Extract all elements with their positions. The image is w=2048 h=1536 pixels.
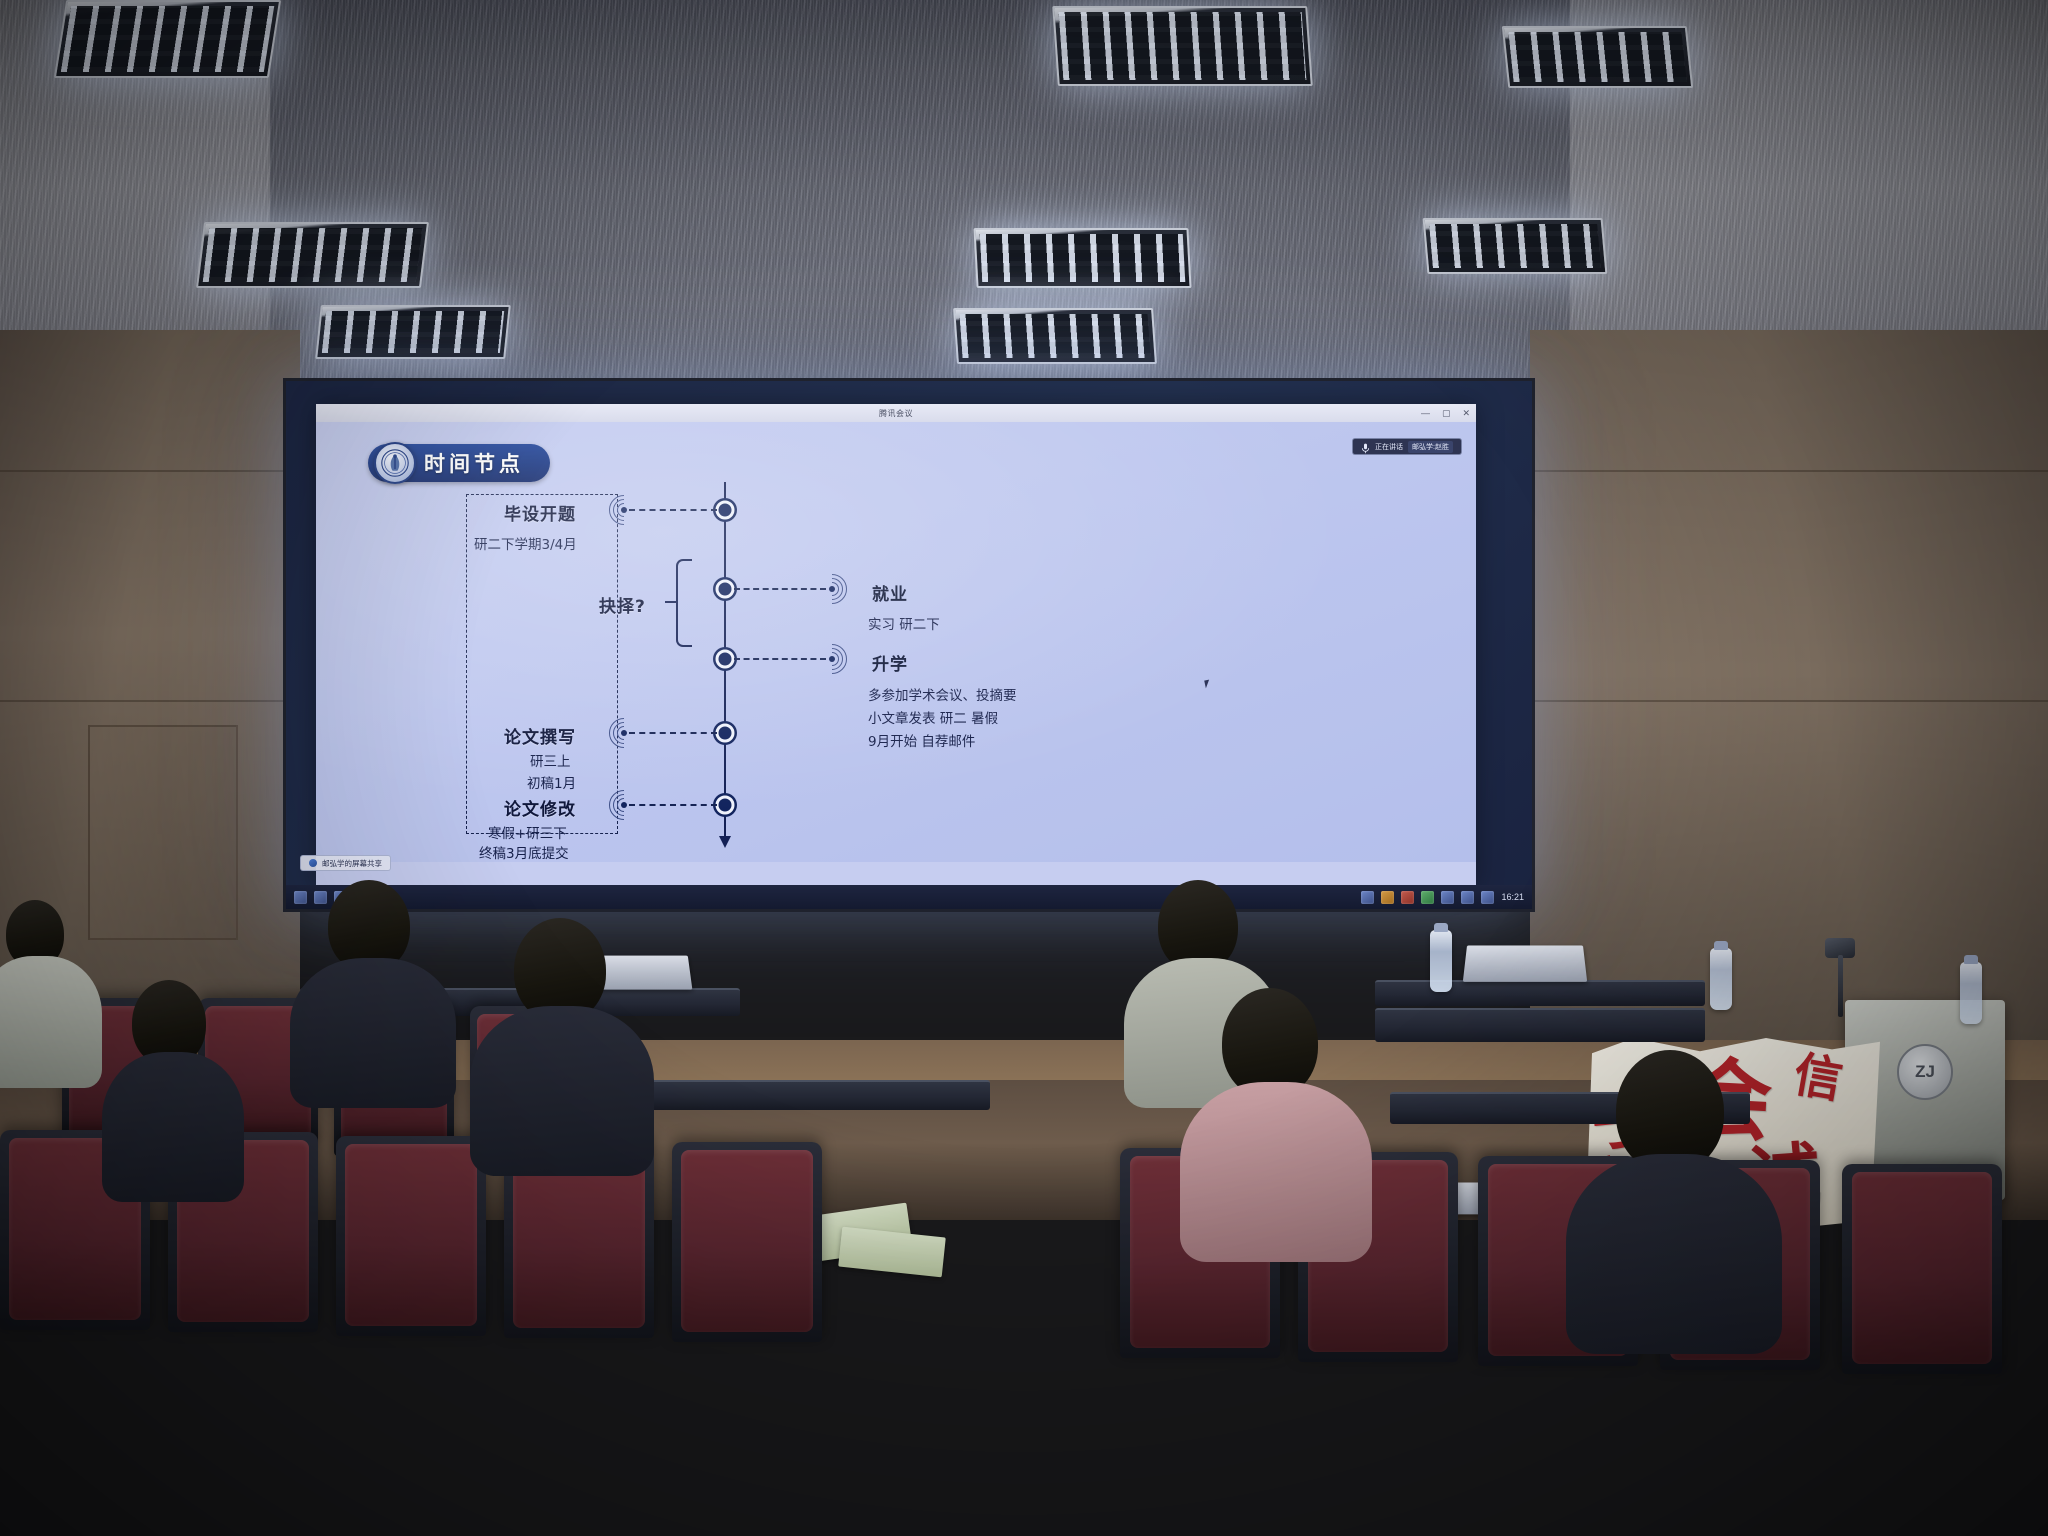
branch-title: 升学	[872, 650, 908, 675]
meeting-app-window[interactable]: 腾讯会议 — ▢ ✕	[316, 404, 1476, 886]
desk	[1375, 1008, 1705, 1042]
decision-brace	[676, 559, 692, 647]
timeline-node	[716, 501, 735, 520]
connector-line	[734, 658, 826, 660]
wall-seam	[1530, 700, 2048, 702]
milestone-title: 论文修改	[504, 795, 576, 820]
microphone-icon	[1361, 441, 1370, 452]
water-bottle	[1710, 948, 1732, 1010]
ceiling-lamp	[1052, 6, 1313, 86]
timeline-arrow-icon	[719, 836, 731, 848]
timeline-node	[716, 650, 735, 669]
signal-ripple-icon	[607, 716, 641, 750]
signal-ripple-icon	[815, 572, 849, 606]
signal-ripple-icon	[607, 493, 641, 527]
ceiling-lamp	[973, 228, 1191, 288]
ceiling-lamp	[54, 0, 281, 78]
screen-share-bar[interactable]: 邮弘学的屏幕共享	[300, 855, 391, 871]
connector-line	[629, 509, 717, 511]
milestone-title: 论文撰写	[504, 723, 576, 748]
chair	[672, 1142, 822, 1342]
ceiling-lamp	[953, 308, 1157, 364]
paper-sheet	[838, 1227, 946, 1278]
maximize-button[interactable]: ▢	[1442, 408, 1451, 419]
close-button[interactable]: ✕	[1462, 408, 1470, 419]
speaking-status: 正在讲话	[1375, 442, 1403, 452]
decision-brace-tick	[665, 601, 677, 603]
milestone-title: 毕设开题	[504, 500, 576, 525]
connector-line	[629, 804, 717, 806]
audience-area	[0, 880, 2048, 1536]
water-bottle	[1960, 962, 1982, 1024]
wall-seam	[0, 470, 300, 472]
screen-share-label: 邮弘学的屏幕共享	[322, 858, 382, 869]
window-controls: — ▢ ✕	[1421, 404, 1470, 422]
slide-heading: 时间节点	[368, 444, 550, 482]
signal-ripple-icon	[607, 788, 641, 822]
ceiling-lamp	[1502, 26, 1694, 88]
wall-seam	[1530, 470, 2048, 472]
window-titlebar: 腾讯会议 — ▢ ✕	[316, 404, 1476, 422]
university-crest-icon	[374, 442, 416, 484]
decision-label: 抉择?	[599, 592, 646, 617]
branch-title: 就业	[872, 580, 908, 605]
water-bottle	[1430, 930, 1452, 992]
speaker-name: 邮弘学:赵胜	[1408, 441, 1453, 453]
projection-screen: 腾讯会议 — ▢ ✕	[283, 378, 1535, 912]
milestone-subline: 研二下学期3/4月	[474, 533, 577, 553]
desk	[1375, 980, 1705, 1006]
wall-seam	[0, 700, 300, 702]
screenshot-root: 腾讯会议 — ▢ ✕	[0, 0, 2048, 1536]
branch-subline: 9月开始 自荐邮件	[868, 730, 975, 750]
chair	[1842, 1164, 2002, 1374]
milestone-subline: 寒假+研三下	[488, 822, 567, 842]
timeline-node	[716, 724, 735, 743]
connector-line	[734, 588, 826, 590]
chair	[336, 1136, 486, 1336]
ceiling-lamp	[196, 222, 429, 288]
milestone-subline: 研三上	[530, 750, 571, 770]
ceiling-lamp	[315, 305, 511, 359]
active-speaker-badge: 正在讲话 邮弘学:赵胜	[1352, 438, 1462, 455]
presentation-slide: 时间节点 正在讲话 邮弘学:赵胜	[316, 422, 1476, 862]
connector-line	[629, 732, 717, 734]
window-title: 腾讯会议	[879, 408, 913, 419]
screen-share-icon	[309, 859, 317, 867]
signal-ripple-icon	[815, 642, 849, 676]
minimize-button[interactable]: —	[1421, 408, 1430, 418]
milestone-subline: 初稿1月	[527, 772, 576, 792]
milestone-subline: 终稿3月底提交	[479, 842, 569, 862]
branch-subline: 多参加学术会议、投摘要	[868, 684, 1017, 704]
timeline-node	[716, 796, 735, 815]
laptop	[1463, 945, 1587, 981]
branch-subline: 小文章发表 研二 暑假	[868, 707, 998, 727]
mouse-cursor-icon	[1204, 680, 1211, 689]
branch-subline: 实习 研二下	[868, 613, 940, 633]
timeline-node	[716, 580, 735, 599]
ceiling-lamp	[1423, 218, 1608, 274]
slide-heading-text: 时间节点	[424, 448, 524, 478]
